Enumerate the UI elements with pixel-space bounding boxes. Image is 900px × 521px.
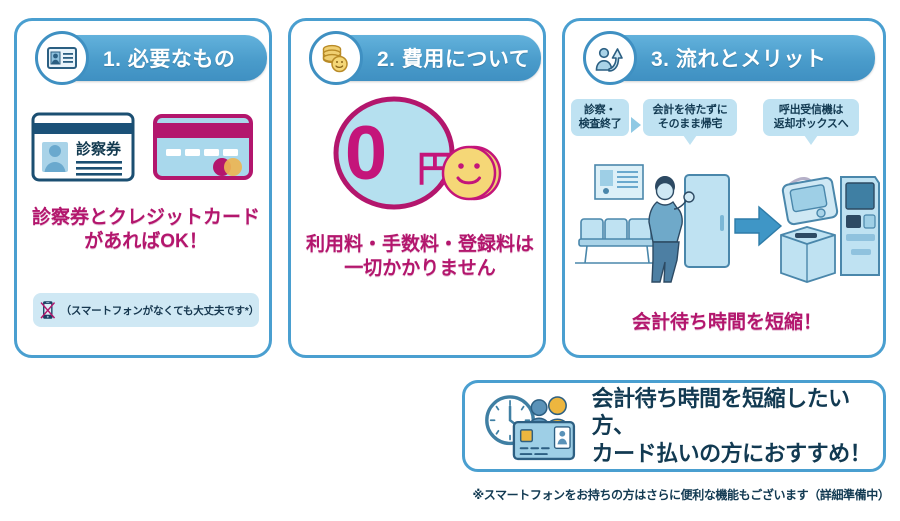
card3-headline-line1: 会計待ち時間を短縮！ <box>573 311 881 335</box>
pager-device-icon <box>782 177 838 225</box>
flow-bubble-3: 呼出受信機は 返却ボックスへ <box>763 99 859 136</box>
svg-text:診察券: 診察券 <box>76 140 122 158</box>
badge-coin-stack-icon <box>309 31 363 85</box>
zero-yen-graphic: 0 円 <box>322 95 512 211</box>
person-arrow-up-icon <box>593 41 627 75</box>
card2-headline-line1: 利用料・手数料・登録料は <box>297 233 543 257</box>
recommendation-line2: カード払いの方におすすめ！ <box>592 440 883 468</box>
recommendation-box: 会計待ち時間を短縮したい方、 カード払いの方におすすめ！ <box>462 380 886 472</box>
recommendation-text: 会計待ち時間を短縮したい方、 カード払いの方におすすめ！ <box>592 385 883 468</box>
flow-bubbles: 診察・ 検査終了 会計を待たずに そのまま帰宅 呼出受信機は 返却ボックスへ <box>565 97 883 155</box>
card2-title: 2. 費用について <box>377 43 530 73</box>
card-cost: 2. 費用について 0 円 利用料・手数料・登録料は 一切かかりません <box>288 18 546 358</box>
card1-header: 1. 必要なもの <box>59 35 267 81</box>
clinic-scene <box>573 161 881 283</box>
card1-headline: 診察券とクレジットカード があればOK！ <box>23 206 269 255</box>
flow-bubble-2-line1: 会計を待たずに <box>649 103 731 117</box>
door-icon <box>685 175 729 267</box>
no-smartphone-note: （スマートフォンがなくても大丈夫です*） <box>33 293 259 327</box>
coin-stack-icon <box>319 41 353 75</box>
card2-headline: 利用料・手数料・登録料は 一切かかりません <box>297 233 543 282</box>
card1-title: 1. 必要なもの <box>103 43 235 73</box>
recommendation-line1: 会計待ち時間を短縮したい方、 <box>592 385 883 440</box>
flow-bubble-1: 診察・ 検査終了 <box>571 99 629 136</box>
card3-header: 3. 流れとメリット <box>607 35 875 81</box>
card3-title: 3. 流れとメリット <box>651 43 826 73</box>
payment-kiosk-icon <box>841 177 879 275</box>
credit-card-icon <box>152 111 256 183</box>
flow-arrow-icon <box>631 117 641 133</box>
no-smartphone-text: （スマートフォンがなくても大丈夫です*） <box>61 303 259 318</box>
flow-bubble-2-line2: そのまま帰宅 <box>649 117 731 131</box>
flow-bubble-1-line2: 検査終了 <box>577 117 623 131</box>
flow-bubble-1-line1: 診察・ <box>577 103 623 117</box>
badge-id-card-icon <box>35 31 89 85</box>
card3-headline: 会計待ち時間を短縮！ <box>573 311 881 335</box>
badge-person-arrow-icon <box>583 31 637 85</box>
id-card-icon <box>45 41 79 75</box>
flow-scene-illustration <box>573 161 881 283</box>
recommendation-icons <box>481 390 582 462</box>
wall-poster-icon <box>595 165 643 199</box>
card2-illustration: 0 円 <box>291 93 543 213</box>
flow-bubble-2: 会計を待たずに そのまま帰宅 <box>643 99 737 136</box>
zero-amount: 0 <box>345 111 387 196</box>
patient-card-icon: 診察券 <box>30 109 138 185</box>
id-card-icon <box>514 422 574 459</box>
return-box-icon <box>781 227 835 282</box>
card1-illustration: 診察券 <box>17 101 269 193</box>
flow-bubble-3-line1: 呼出受信機は <box>769 103 853 117</box>
flow-bubble-3-line2: 返却ボックスへ <box>769 117 853 131</box>
infographic-root: 1. 必要なもの 診察券 <box>0 0 900 521</box>
card1-headline-line1: 診察券とクレジットカード <box>23 206 269 230</box>
card2-headline-line2: 一切かかりません <box>297 257 543 281</box>
card-necessary-items: 1. 必要なもの 診察券 <box>14 18 272 358</box>
footnote: ※スマートフォンをお持ちの方はさらに便利な機能もございます（詳細準備中） <box>466 486 896 503</box>
card1-headline-line2: があればOK！ <box>23 230 269 254</box>
card-flow-and-benefits: 3. 流れとメリット 診察・ 検査終了 会計を待たずに そのまま帰宅 呼出受信機… <box>562 18 886 358</box>
right-arrow-icon <box>735 207 781 245</box>
no-smartphone-icon <box>39 295 57 325</box>
card2-header: 2. 費用について <box>333 35 541 81</box>
